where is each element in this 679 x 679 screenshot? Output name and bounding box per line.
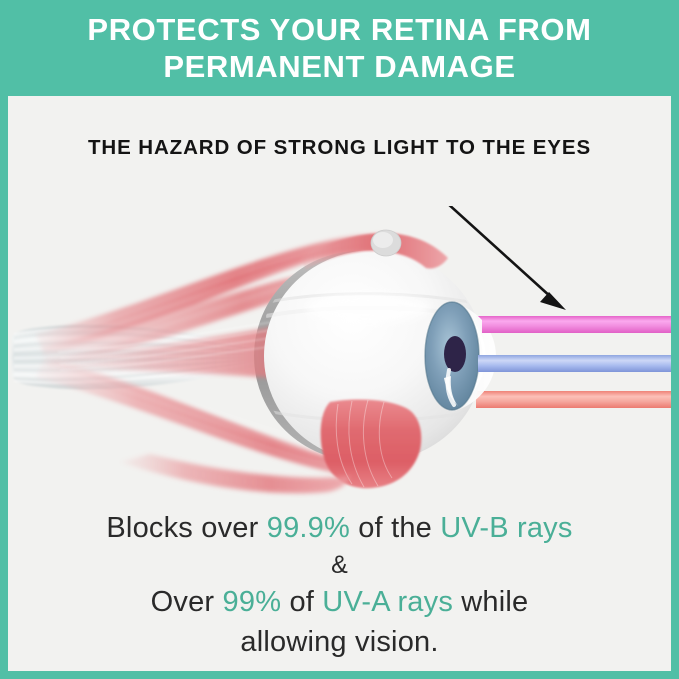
iris-group	[425, 302, 479, 410]
header-title-line-1: PROTECTS YOUR RETINA FROM	[87, 11, 591, 48]
caption-uvb-term: UV-B rays	[440, 512, 572, 544]
caption-line-vision: allowing vision.	[8, 622, 671, 662]
caption-ampersand: &	[8, 548, 671, 582]
caption-uva-prefix: Over	[151, 586, 223, 618]
caption-uva-suffix: while	[453, 586, 528, 618]
caption-uvb-middle: of the	[350, 512, 440, 544]
caption-block: Blocks over 99.9% of the UV-B rays & Ove…	[8, 508, 671, 662]
caption-uva-stat: 99%	[223, 586, 282, 618]
header-title-line-2: PERMANENT DAMAGE	[163, 48, 515, 85]
infographic-card: PROTECTS YOUR RETINA FROM PERMANENT DAMA…	[0, 0, 679, 679]
caption-uva-middle: of	[281, 586, 322, 618]
eye-diagram-svg	[8, 206, 671, 516]
header-banner: PROTECTS YOUR RETINA FROM PERMANENT DAMA…	[0, 0, 679, 96]
caption-uvb-prefix: Blocks over	[106, 512, 266, 544]
pupil	[444, 336, 466, 372]
caption-line-uvb: Blocks over 99.9% of the UV-B rays	[8, 508, 671, 548]
subtitle-heading: THE HAZARD OF STRONG LIGHT TO THE EYES	[8, 136, 671, 160]
light-rays-foreground	[478, 316, 671, 408]
caption-line-uva: Over 99% of UV-A rays while	[8, 582, 671, 622]
content-panel: THE HAZARD OF STRONG LIGHT TO THE EYES	[8, 96, 671, 671]
eye-anatomy-diagram	[8, 206, 671, 516]
caption-uvb-stat: 99.9%	[267, 512, 350, 544]
caption-uva-term: UV-A rays	[322, 586, 453, 618]
